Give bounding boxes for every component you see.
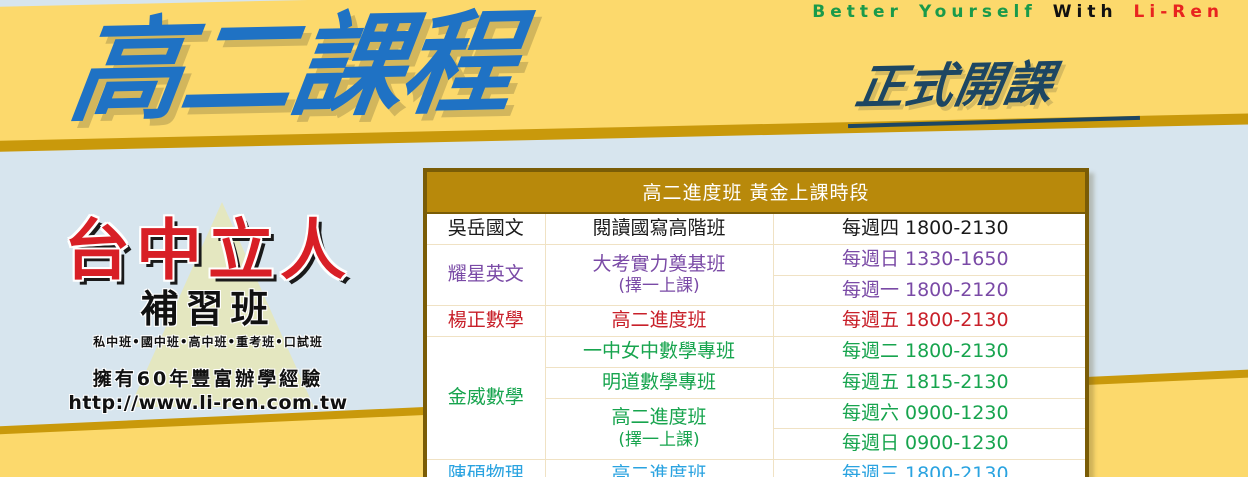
tagline-word: Yourself xyxy=(919,2,1037,22)
time-cell: 每週日 0900-1230 xyxy=(773,429,1085,460)
banner-stage: BetterYourselfWithLi-Ren 高二課程 正式開課 台中立人 … xyxy=(0,0,1248,477)
course-cell: 一中女中數學專班 xyxy=(545,337,773,368)
logo-class-list: 私中班•國中班•高中班•重考班•口試班 xyxy=(22,333,394,350)
schedule-header: 高二進度班 黃金上課時段 xyxy=(427,172,1085,213)
teacher-cell: 陳碩物理 xyxy=(427,460,545,477)
course-note: (擇一上課) xyxy=(552,276,767,297)
page-subtitle: 正式開課 xyxy=(852,60,1057,112)
schedule-body: 吳岳國文閱讀國寫高階班每週四 1800-2130耀星英文大考實力奠基班(擇一上課… xyxy=(427,213,1085,477)
course-cell: 高二進度班(擇一上課) xyxy=(545,398,773,460)
time-cell: 每週五 1815-2130 xyxy=(773,367,1085,398)
teacher-cell: 金威數學 xyxy=(427,337,545,460)
course-note: (擇一上課) xyxy=(552,430,767,451)
tagline-word: Better xyxy=(812,2,903,22)
logo-experience: 擁有60年豐富辦學經驗 xyxy=(22,364,394,391)
time-cell: 每週三 1800-2130 xyxy=(773,460,1085,477)
time-cell: 每週日 1330-1650 xyxy=(773,244,1085,275)
course-cell: 大考實力奠基班(擇一上課) xyxy=(545,244,773,306)
logo-main-text: 台中立人 xyxy=(22,218,394,284)
table-row: 耀星英文大考實力奠基班(擇一上課)每週日 1330-1650 xyxy=(427,244,1085,275)
logo-sub-text: 補習班 xyxy=(22,290,394,328)
tagline-word: Li-Ren xyxy=(1134,2,1224,22)
time-cell: 每週五 1800-2130 xyxy=(773,306,1085,337)
table-row: 陳碩物理高二進度班每週三 1800-2130 xyxy=(427,460,1085,477)
tagline: BetterYourselfWithLi-Ren xyxy=(812,2,1240,22)
page-title: 高二課程 xyxy=(64,7,521,128)
logo-website-url[interactable]: http://www.li-ren.com.tw xyxy=(22,392,394,414)
time-cell: 每週二 1800-2130 xyxy=(773,337,1085,368)
table-row: 金威數學一中女中數學專班每週二 1800-2130 xyxy=(427,337,1085,368)
tagline-word: With xyxy=(1053,2,1118,22)
table-row: 吳岳國文閱讀國寫高階班每週四 1800-2130 xyxy=(427,213,1085,244)
course-cell: 明道數學專班 xyxy=(545,367,773,398)
time-cell: 每週四 1800-2130 xyxy=(773,213,1085,244)
course-cell: 高二進度班 xyxy=(545,460,773,477)
teacher-cell: 楊正數學 xyxy=(427,306,545,337)
time-cell: 每週一 1800-2120 xyxy=(773,275,1085,306)
brand-logo: 台中立人 補習班 私中班•國中班•高中班•重考班•口試班 擁有60年豐富辦學經驗… xyxy=(22,218,394,414)
schedule-table-container: 高二進度班 黃金上課時段 吳岳國文閱讀國寫高階班每週四 1800-2130耀星英… xyxy=(423,168,1089,477)
course-cell: 高二進度班 xyxy=(545,306,773,337)
table-row: 楊正數學高二進度班每週五 1800-2130 xyxy=(427,306,1085,337)
time-cell: 每週六 0900-1230 xyxy=(773,398,1085,429)
teacher-cell: 吳岳國文 xyxy=(427,213,545,244)
schedule-table: 高二進度班 黃金上課時段 吳岳國文閱讀國寫高階班每週四 1800-2130耀星英… xyxy=(427,172,1085,477)
teacher-cell: 耀星英文 xyxy=(427,244,545,306)
course-cell: 閱讀國寫高階班 xyxy=(545,213,773,244)
